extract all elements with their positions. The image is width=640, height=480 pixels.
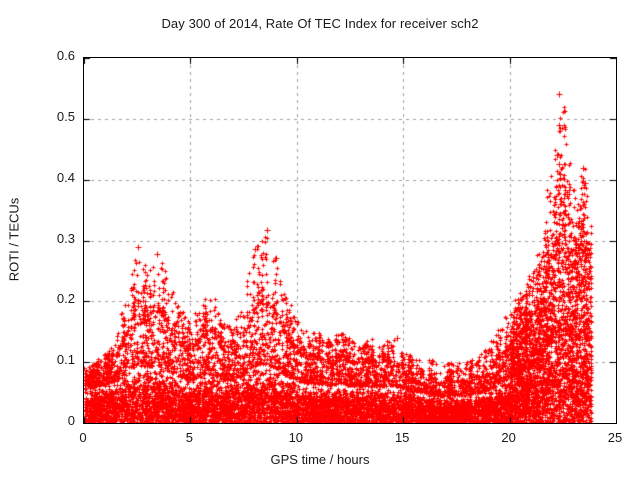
chart-figure: Day 300 of 2014, Rate Of TEC Index for r… bbox=[0, 0, 640, 480]
x-axis-label: GPS time / hours bbox=[0, 452, 640, 467]
x-tick-label: 10 bbox=[266, 430, 326, 445]
x-tick-label: 20 bbox=[479, 430, 539, 445]
plot-area bbox=[83, 57, 617, 424]
y-tick-label: 0.6 bbox=[15, 48, 75, 63]
scatter-points bbox=[84, 58, 616, 423]
y-tick-label: 0.1 bbox=[15, 352, 75, 367]
y-axis-label: ROTI / TECUs bbox=[7, 150, 22, 330]
y-tick-label: 0.3 bbox=[15, 231, 75, 246]
chart-title: Day 300 of 2014, Rate Of TEC Index for r… bbox=[0, 16, 640, 31]
y-tick-label: 0 bbox=[15, 413, 75, 428]
y-tick-label: 0.2 bbox=[15, 291, 75, 306]
x-tick-label: 5 bbox=[159, 430, 219, 445]
y-tick-label: 0.4 bbox=[15, 170, 75, 185]
x-tick-label: 25 bbox=[585, 430, 640, 445]
y-tick-label: 0.5 bbox=[15, 109, 75, 124]
grid-lines bbox=[84, 58, 616, 423]
axis-tick-marks bbox=[84, 58, 616, 423]
x-tick-label: 15 bbox=[372, 430, 432, 445]
x-tick-label: 0 bbox=[53, 430, 113, 445]
